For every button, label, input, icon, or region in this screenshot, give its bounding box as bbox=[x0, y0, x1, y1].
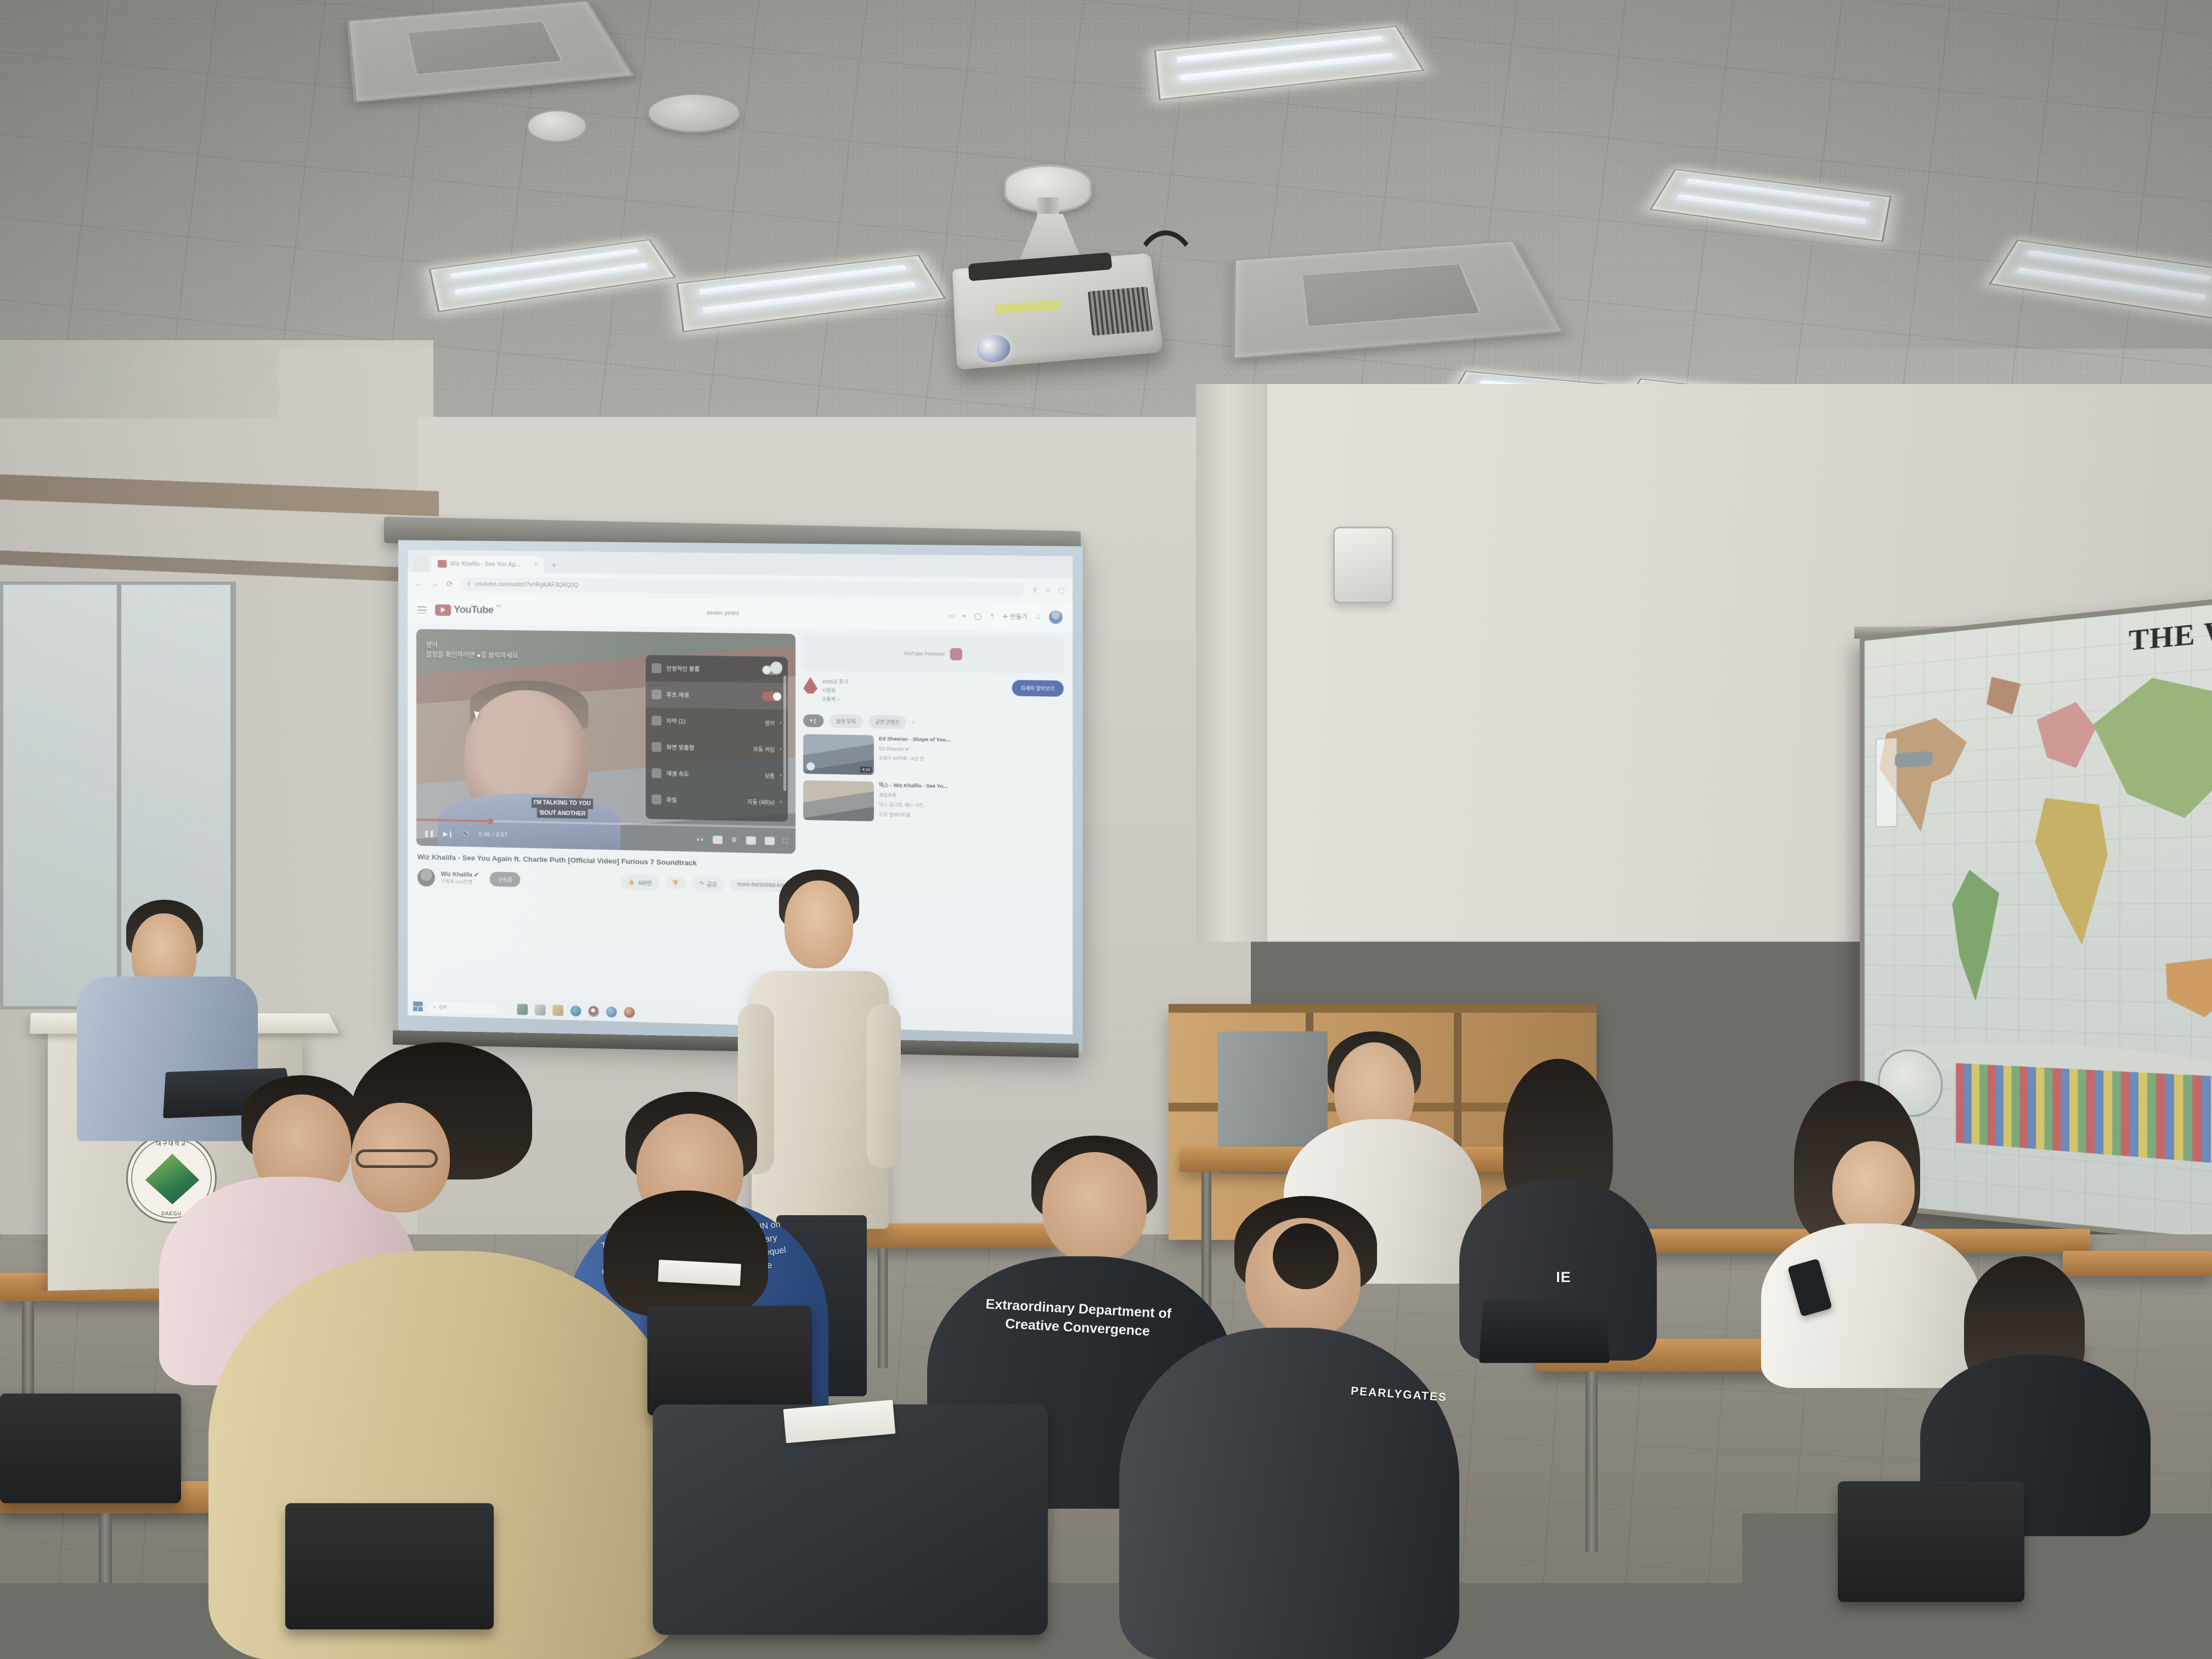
settings-row-label: 재생 속도 bbox=[667, 769, 760, 779]
list-item[interactable]: 믹스 - Wiz Khalifa - See Yo... 재생목록 믹스 김나희… bbox=[803, 780, 1064, 825]
channel-avatar[interactable] bbox=[417, 868, 435, 886]
settings-row-value: 자동 켜짐 bbox=[753, 744, 775, 753]
caption-language: 영어 bbox=[426, 640, 520, 651]
student-body bbox=[1119, 1328, 1459, 1659]
video-duration: 4:24 bbox=[860, 766, 872, 772]
chevron-right-icon: › bbox=[780, 799, 782, 805]
projection-screen: Wiz Khalifa - See You Ag... × + ← → ⟳ ⚲ … bbox=[398, 540, 1083, 1052]
share-icon: ↷ bbox=[699, 881, 703, 887]
video-title: Wiz Khalifa - See You Again ft. Charlie … bbox=[417, 851, 794, 871]
settings-row-toggle[interactable] bbox=[762, 665, 782, 675]
recommendation-channel: Ed Sheeran ✔ bbox=[879, 745, 950, 754]
settings-row-label: 화면 맞춤형 bbox=[667, 743, 748, 753]
video-meta-row: Wiz Khalifa ✔ 구독자 nnn만명 구독중 👍 449만 bbox=[417, 868, 794, 895]
site-info-icon[interactable]: ⚲ bbox=[467, 581, 471, 587]
autoplay-toggle[interactable]: ◖◗ bbox=[696, 835, 704, 843]
thumbs-down-icon: 👎 bbox=[672, 880, 679, 886]
browser-tab[interactable]: Wiz Khalifa - See You Ag... × bbox=[431, 556, 544, 573]
settings-row-value: 자동 (480p) bbox=[747, 797, 775, 806]
video-lyrics-caption: I'M TALKING TO YOU 'BOUT ANOTHER bbox=[532, 798, 593, 819]
lyrics-line-1: I'M TALKING TO YOU bbox=[532, 798, 593, 809]
caption-language-hint: 영어 설정을 확인하려면 ●을 클릭하세요. bbox=[426, 640, 520, 661]
map-legend bbox=[1876, 737, 1897, 827]
chrome-icon[interactable] bbox=[588, 1006, 599, 1017]
settings-scrollbar[interactable] bbox=[783, 675, 786, 791]
share-icon[interactable]: ⇪ bbox=[1032, 586, 1037, 594]
presenter-arm bbox=[867, 1004, 901, 1169]
close-icon[interactable]: × bbox=[534, 561, 537, 568]
thumbs-up-icon: 👍 bbox=[628, 879, 635, 885]
player-settings-menu[interactable]: 안정적인 볼륨 루프 재생 자막 (1) 영어 bbox=[646, 655, 788, 822]
settings-row[interactable]: 루프 재생 bbox=[646, 681, 788, 710]
edge-icon[interactable] bbox=[571, 1006, 582, 1017]
channel-subscribers: 구독자 nnn만명 bbox=[441, 878, 479, 885]
desk-leg bbox=[1585, 1372, 1598, 1553]
chevron-right-icon[interactable]: › bbox=[912, 719, 915, 725]
search-placeholder: 검색 bbox=[439, 1004, 447, 1011]
captions-icon bbox=[652, 716, 662, 726]
filter-chip-row: ♥❙ 음악 뮤직 공연 콘텐츠 › bbox=[803, 714, 1064, 732]
classroom-photo-scene: THE W Wiz Khalifa - See You Ag... × + bbox=[0, 0, 2212, 1659]
settings-row-value: 보통 bbox=[765, 771, 775, 779]
share-label: 공유 bbox=[707, 879, 717, 888]
bookmark-icon[interactable]: ☆ bbox=[1045, 586, 1051, 594]
premium-promo-text: YouTube Premium bbox=[904, 651, 945, 657]
filter-chip[interactable]: 공연 콘텐츠 bbox=[868, 714, 906, 729]
captions-icon[interactable] bbox=[713, 836, 723, 844]
learn-more-button[interactable]: 자세히 알아보기 bbox=[1012, 680, 1064, 697]
video-time-display: 0:46 / 3:57 bbox=[478, 831, 507, 838]
settings-row[interactable]: 화면 맞춤형 자동 켜짐 › bbox=[646, 733, 788, 762]
laptop[interactable] bbox=[1479, 1300, 1610, 1363]
offer-card: 2025년 후기 시청료 소통체 ㄴ 자세히 알아보기 bbox=[803, 677, 1064, 708]
premium-badge bbox=[950, 648, 962, 660]
create-button[interactable]: ✛ 만들기 bbox=[1003, 612, 1028, 622]
video-player[interactable]: 영어 설정을 확인하려면 ●을 클릭하세요. I'M TALKING TO YO… bbox=[416, 629, 795, 854]
list-item[interactable]: 4:24 Ed Sheeran - Shape of You... Ed She… bbox=[803, 734, 1064, 778]
video-thumbnail: 4:24 bbox=[803, 734, 874, 775]
taskbar-app-icons bbox=[517, 1004, 635, 1018]
filter-chip[interactable]: 음악 뮤직 bbox=[830, 714, 862, 728]
desk bbox=[861, 1223, 1059, 1248]
youtube-body: 영어 설정을 확인하려면 ●을 클릭하세요. I'M TALKING TO YO… bbox=[408, 624, 1073, 901]
chevron-right-icon: › bbox=[780, 772, 782, 778]
backpack[interactable] bbox=[1602, 1531, 1832, 1659]
chair[interactable] bbox=[647, 1306, 812, 1415]
student-hair bbox=[1273, 1223, 1339, 1289]
recommendation-meta-2: 무성 업데이트됨 bbox=[879, 811, 947, 820]
desk-leg bbox=[99, 1513, 112, 1612]
student-head bbox=[1832, 1141, 1915, 1234]
presenter-head bbox=[785, 881, 853, 968]
youtube-play-icon bbox=[435, 604, 451, 616]
shirt-print: IE bbox=[1503, 1267, 1624, 1287]
recommendation-meta: 믹스 김나희, 에드 시런... bbox=[879, 801, 947, 810]
backpack[interactable] bbox=[653, 1404, 1048, 1635]
settings-row[interactable]: 안정적인 볼륨 bbox=[646, 655, 788, 684]
hamburger-icon[interactable] bbox=[417, 606, 427, 613]
dislike-button[interactable]: 👎 bbox=[665, 877, 686, 890]
settings-row[interactable]: 자막 (1) 영어 › bbox=[646, 707, 788, 736]
youtube-search-input[interactable]: seven years bbox=[510, 607, 940, 619]
mic-icon[interactable]: ⌖ bbox=[962, 612, 966, 620]
search-icon[interactable]: ◯ bbox=[974, 612, 981, 620]
settings-row-label: 안정적인 볼륨 bbox=[667, 664, 757, 674]
settings-row-toggle[interactable] bbox=[762, 691, 782, 701]
ceiling-speaker bbox=[647, 93, 741, 133]
speed-icon bbox=[652, 768, 662, 778]
youtube-wordmark: YouTube bbox=[454, 604, 494, 617]
subscribe-button[interactable]: 구독중 bbox=[489, 871, 520, 887]
projector-lens bbox=[976, 334, 1011, 364]
create-label: 만들기 bbox=[1010, 612, 1027, 622]
youtube-favicon bbox=[438, 560, 447, 568]
youtube-secondary-column: YouTube Premium 2025년 후기 시청료 소통체 ㄴ 자세히 알… bbox=[803, 634, 1064, 901]
pause-icon[interactable]: ❚❚ bbox=[424, 830, 435, 837]
caption-hint: 설정을 확인하려면 ●을 클릭하세요. bbox=[426, 650, 520, 661]
windows-start-icon[interactable] bbox=[413, 1001, 422, 1011]
like-button[interactable]: 👍 449만 bbox=[621, 874, 659, 890]
student-body bbox=[1761, 1223, 1980, 1388]
onedrive-icon[interactable] bbox=[606, 1006, 617, 1017]
recommendation-title: Ed Sheeran - Shape of You... bbox=[879, 735, 950, 744]
search-input[interactable]: ⌕ 검색 bbox=[428, 1001, 498, 1014]
offer-text: 2025년 후기 시청료 소통체 ㄴ bbox=[822, 677, 1007, 707]
ceiling-dome-light bbox=[527, 110, 587, 143]
folder-icon[interactable] bbox=[552, 1005, 563, 1016]
youtube-logo[interactable]: YouTube KR bbox=[435, 604, 501, 617]
settings-row-label: 자막 (1) bbox=[667, 716, 760, 726]
theater-icon[interactable] bbox=[765, 837, 775, 845]
volume-icon[interactable]: 🔊 bbox=[462, 831, 470, 838]
verified-icon: ✔ bbox=[474, 872, 479, 878]
settings-row[interactable]: 재생 속도 보통 › bbox=[646, 760, 788, 789]
notifications-icon[interactable]: ♤ bbox=[1035, 613, 1041, 620]
chair[interactable] bbox=[0, 1393, 181, 1503]
fullscreen-icon[interactable]: ⛶ bbox=[783, 837, 788, 845]
address-value: youtube.com/watch?v=RgKAF3Q6QJQ bbox=[475, 581, 578, 589]
student-head bbox=[1042, 1152, 1147, 1262]
firefox-icon[interactable] bbox=[624, 1007, 635, 1018]
youtube-locale: KR bbox=[496, 605, 501, 608]
desk-leg bbox=[878, 1248, 888, 1368]
chevron-right-icon: › bbox=[780, 746, 782, 752]
youtube-header-actions: ▭ ⌖ ◯ ⇡ ✛ 만들기 ♤ bbox=[949, 610, 1063, 624]
cast-icon[interactable]: ▭ bbox=[949, 612, 955, 620]
reload-icon[interactable]: ⟳ bbox=[446, 579, 453, 589]
loop-icon bbox=[652, 690, 662, 699]
chair[interactable] bbox=[285, 1503, 494, 1629]
next-icon[interactable]: ▶❙ bbox=[443, 830, 454, 838]
settings-row[interactable]: 화질 자동 (480p) › bbox=[646, 786, 788, 815]
ceiling-projector bbox=[952, 253, 1164, 370]
account-avatar[interactable] bbox=[1049, 611, 1063, 624]
forward-icon[interactable]: → bbox=[431, 579, 439, 589]
map-label-tag bbox=[1895, 751, 1933, 768]
recommendation-title: 믹스 - Wiz Khalifa - See Yo... bbox=[879, 781, 947, 791]
back-icon[interactable]: ← bbox=[415, 579, 424, 588]
quality-icon bbox=[652, 794, 662, 804]
student-hair bbox=[603, 1190, 768, 1317]
desk-leg bbox=[1201, 1172, 1211, 1314]
mix-icon[interactable]: ♥❙ bbox=[803, 714, 823, 727]
projected-browser-window: Wiz Khalifa - See You Ag... × + ← → ⟳ ⚲ … bbox=[408, 550, 1073, 1034]
settings-row-label: 루프 재생 bbox=[667, 691, 757, 701]
plus-icon: ✛ bbox=[1003, 613, 1008, 620]
settings-row-label: 화질 bbox=[667, 795, 743, 805]
rocket-icon bbox=[803, 677, 817, 693]
paper bbox=[658, 1260, 741, 1286]
file-manager-icon[interactable] bbox=[535, 1005, 546, 1015]
music-badge bbox=[806, 762, 815, 770]
youtube-primary-column: 영어 설정을 확인하려면 ●을 클릭하세요. I'M TALKING TO YO… bbox=[416, 629, 795, 895]
recommendation-list: 4:24 Ed Sheeran - Shape of You... Ed She… bbox=[803, 734, 1064, 825]
new-tab-button[interactable]: + bbox=[546, 561, 562, 573]
chevron-right-icon: › bbox=[780, 719, 782, 726]
premium-promo-banner[interactable]: YouTube Premium bbox=[803, 634, 1064, 674]
settings-gear-icon[interactable]: ⚙ bbox=[731, 836, 737, 844]
share-button[interactable]: ↷ 공유 bbox=[692, 876, 724, 891]
upload-icon[interactable]: ⇡ bbox=[989, 612, 995, 620]
miniplayer-icon[interactable] bbox=[746, 836, 756, 844]
glasses bbox=[356, 1149, 438, 1168]
wall-speaker bbox=[1333, 527, 1393, 603]
address-input[interactable]: ⚲ youtube.com/watch?v=RgKAF3Q6QJQ bbox=[460, 577, 1024, 597]
desk bbox=[2063, 1251, 2212, 1276]
verified-icon: ✔ bbox=[905, 746, 909, 752]
recommendation-meta: 조회수 64억회 · 8년 전 bbox=[879, 755, 950, 764]
search-icon: ⌕ bbox=[433, 1004, 436, 1010]
download-icon[interactable] bbox=[413, 557, 429, 572]
chair[interactable] bbox=[1838, 1481, 2024, 1602]
extensions-icon[interactable]: ⬚ bbox=[1058, 586, 1065, 594]
widgets-icon[interactable] bbox=[517, 1004, 528, 1015]
settings-row-value: 영어 bbox=[765, 718, 775, 726]
search-query-value: seven years bbox=[707, 610, 739, 617]
lyrics-line-2: 'BOUT ANOTHER bbox=[537, 808, 588, 819]
browser-toolbar-icons: ⇪ ☆ ⬚ bbox=[1032, 586, 1065, 595]
video-thumbnail bbox=[803, 780, 874, 821]
recommendation-channel: 재생목록 bbox=[879, 792, 947, 800]
browser-tab-title: Wiz Khalifa - See You Ag... bbox=[450, 561, 520, 568]
stable-volume-icon bbox=[652, 663, 662, 673]
ambient-icon bbox=[652, 742, 662, 752]
like-count: 449만 bbox=[638, 878, 652, 887]
